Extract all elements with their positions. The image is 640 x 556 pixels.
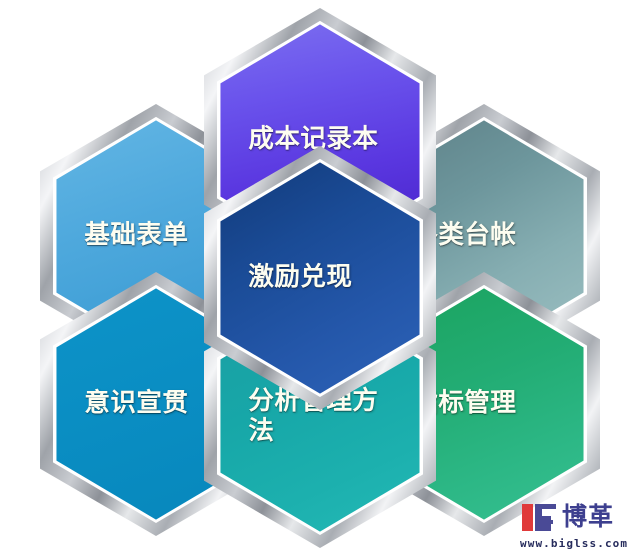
hexagon-diagram-canvas: 基础表单 意识宣贯 各类台帐 指标管理 成本记录本 bbox=[0, 0, 640, 556]
brand-url: www.biglss.com bbox=[520, 537, 628, 550]
hex-cell-center[interactable]: 激励兑现 bbox=[204, 146, 436, 410]
watermark-logo: 博革 www.biglss.com bbox=[516, 498, 634, 552]
hex-label-center: 激励兑现 bbox=[220, 262, 419, 293]
brand-mark-icon bbox=[522, 504, 556, 531]
brand-name: 博革 bbox=[562, 502, 614, 532]
